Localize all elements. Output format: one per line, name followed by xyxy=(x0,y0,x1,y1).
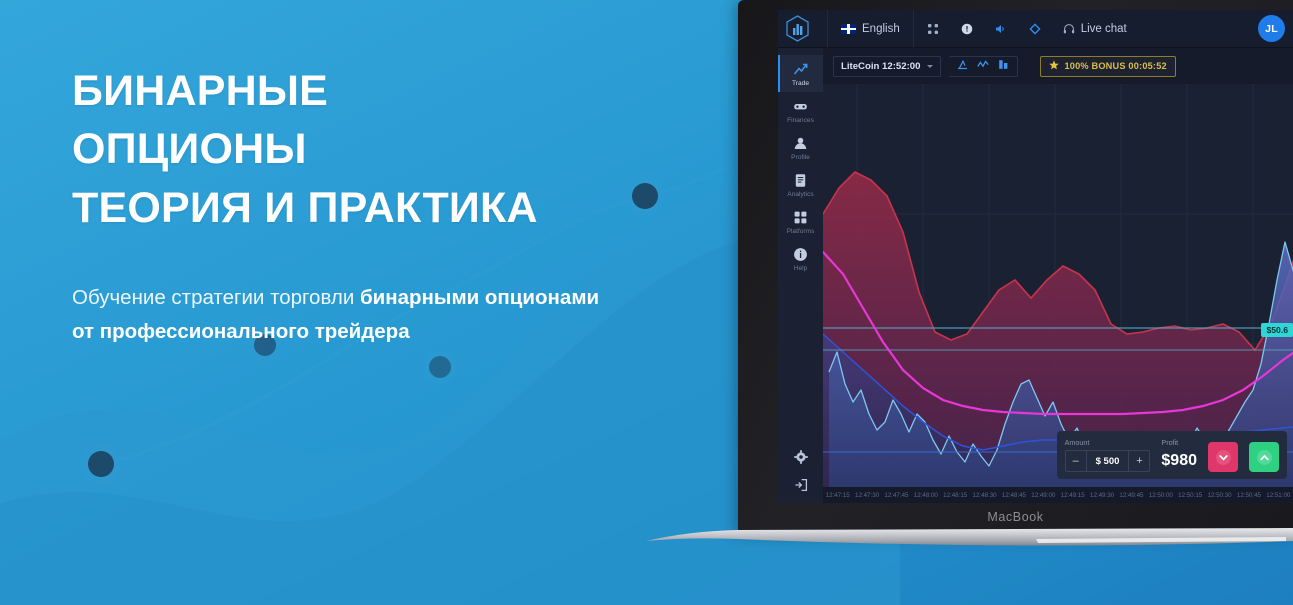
x-tick-label: 12:48:00 xyxy=(911,492,940,499)
sidebar-label-trade: Trade xyxy=(792,80,809,87)
macbook-bezel-label: MacBook xyxy=(738,504,1293,530)
profit-label: Profit xyxy=(1161,438,1197,447)
drawing-tool-icon[interactable] xyxy=(957,57,968,75)
chevron-down-icon xyxy=(927,65,933,68)
laptop-base xyxy=(646,528,1293,554)
x-tick-label: 12:48:15 xyxy=(941,492,970,499)
sidebar-label-finances: Finances xyxy=(787,117,814,124)
hero-copy-block: БИНАРНЫЕ ОПЦИОНЫ ТЕОРИЯ И ПРАКТИКА Обуче… xyxy=(72,62,672,348)
chart-tools-group xyxy=(949,56,1018,77)
call-up-button[interactable] xyxy=(1249,442,1279,472)
price-chart[interactable]: $50.6 Amount – $ 500 + Profit xyxy=(823,84,1293,503)
quantity-stepper[interactable]: – $ 500 + xyxy=(1065,450,1151,472)
logout-icon[interactable] xyxy=(793,477,809,493)
sidebar-bottom-actions xyxy=(793,449,809,503)
x-tick-label: 12:50:00 xyxy=(1146,492,1175,499)
chart-toolbar: LiteCoin 12:52:00 xyxy=(823,48,1293,84)
document-icon xyxy=(793,172,809,188)
headset-icon xyxy=(1063,23,1075,35)
profit-value: $980 xyxy=(1161,450,1197,472)
app-sidebar: Trade Finances xyxy=(778,48,823,503)
x-tick-label: 12:48:30 xyxy=(970,492,999,499)
chevron-down-icon xyxy=(1216,450,1231,465)
wallet-icon xyxy=(793,98,809,114)
put-down-button[interactable] xyxy=(1208,442,1238,472)
amount-increment-button[interactable]: + xyxy=(1129,451,1149,471)
sidebar-item-finances[interactable]: Finances xyxy=(778,92,823,129)
asset-label: LiteCoin 12:52:00 xyxy=(841,61,920,72)
trading-app: English xyxy=(778,10,1293,503)
indicators-icon[interactable] xyxy=(998,57,1009,75)
line-chart-icon[interactable] xyxy=(977,57,989,75)
asset-selector[interactable]: LiteCoin 12:52:00 xyxy=(833,56,941,77)
sidebar-item-platforms[interactable]: Platforms xyxy=(778,203,823,240)
x-tick-label: 12:47:45 xyxy=(882,492,911,499)
title-line-3: ТЕОРИЯ И ПРАКТИКА xyxy=(72,179,672,237)
bonus-label: 100% BONUS 00:05:52 xyxy=(1064,61,1166,71)
laptop-screen: English xyxy=(778,10,1293,503)
trend-up-icon xyxy=(793,61,809,77)
avatar[interactable]: JL xyxy=(1258,15,1285,42)
x-tick-label: 12:49:15 xyxy=(1058,492,1087,499)
bars-logo-icon[interactable] xyxy=(784,14,811,43)
hero-subtitle: Обучение стратегии торговли бинарными оп… xyxy=(72,281,612,347)
laptop-mockup: MacBook Engl xyxy=(738,0,1293,605)
x-tick-label: 12:49:30 xyxy=(1087,492,1116,499)
amount-value[interactable]: $ 500 xyxy=(1086,451,1130,471)
x-tick-label: 12:47:30 xyxy=(852,492,881,499)
amount-decrement-button[interactable]: – xyxy=(1066,451,1086,471)
x-tick-label: 12:49:45 xyxy=(1117,492,1146,499)
x-tick-label: 12:50:15 xyxy=(1176,492,1205,499)
title-line-2: ОПЦИОНЫ xyxy=(72,120,672,178)
uk-flag-icon xyxy=(841,24,856,34)
fullscreen-icon[interactable] xyxy=(916,10,950,48)
live-chat-label: Live chat xyxy=(1081,23,1127,35)
page-title: БИНАРНЫЕ ОПЦИОНЫ ТЕОРИЯ И ПРАКТИКА xyxy=(72,62,672,237)
x-tick-label: 12:51:00 xyxy=(1264,492,1293,499)
x-tick-label: 12:50:45 xyxy=(1234,492,1263,499)
sidebar-label-analytics: Analytics xyxy=(787,191,813,198)
laptop-lid: MacBook Engl xyxy=(738,0,1293,536)
x-tick-label: 12:50:30 xyxy=(1205,492,1234,499)
sidebar-label-platforms: Platforms xyxy=(787,228,815,235)
sidebar-item-trade[interactable]: Trade xyxy=(778,55,823,92)
sidebar-item-help[interactable]: Help xyxy=(778,240,823,277)
title-line-1: БИНАРНЫЕ xyxy=(72,62,672,120)
chevron-up-icon xyxy=(1257,450,1272,465)
language-label: English xyxy=(862,23,900,35)
language-selector[interactable]: English xyxy=(830,10,911,48)
sidebar-label-help: Help xyxy=(794,265,808,272)
price-badge: $50.6 xyxy=(1261,323,1293,337)
app-topbar: English xyxy=(778,10,1293,48)
sidebar-label-profile: Profile xyxy=(791,154,810,161)
star-icon xyxy=(1049,60,1059,72)
bonus-badge[interactable]: 100% BONUS 00:05:52 xyxy=(1040,56,1175,77)
chart-x-axis: 12:47:1512:47:3012:47:4512:48:0012:48:15… xyxy=(823,487,1293,503)
user-icon xyxy=(793,135,809,151)
grid-icon xyxy=(793,209,809,225)
info-icon[interactable] xyxy=(950,10,984,48)
amount-field: Amount – $ 500 + xyxy=(1065,438,1151,472)
sidebar-item-profile[interactable]: Profile xyxy=(778,129,823,166)
gear-icon[interactable] xyxy=(793,449,809,465)
info-circle-icon xyxy=(793,246,809,262)
x-tick-label: 12:49:00 xyxy=(1029,492,1058,499)
x-tick-label: 12:48:45 xyxy=(999,492,1028,499)
subtitle-light-part: Обучение стратегии торговли xyxy=(72,286,360,309)
profit-field: Profit $980 xyxy=(1161,438,1197,472)
topbar-divider xyxy=(827,10,828,48)
amount-label: Amount xyxy=(1065,438,1151,447)
topbar-divider xyxy=(913,10,914,48)
sidebar-item-analytics[interactable]: Analytics xyxy=(778,166,823,203)
trade-panel: Amount – $ 500 + Profit $980 xyxy=(1057,431,1287,479)
live-chat-button[interactable]: Live chat xyxy=(1052,10,1138,48)
settings-diamond-icon[interactable] xyxy=(1018,10,1052,48)
sound-icon[interactable] xyxy=(984,10,1018,48)
x-tick-label: 12:47:15 xyxy=(823,492,852,499)
